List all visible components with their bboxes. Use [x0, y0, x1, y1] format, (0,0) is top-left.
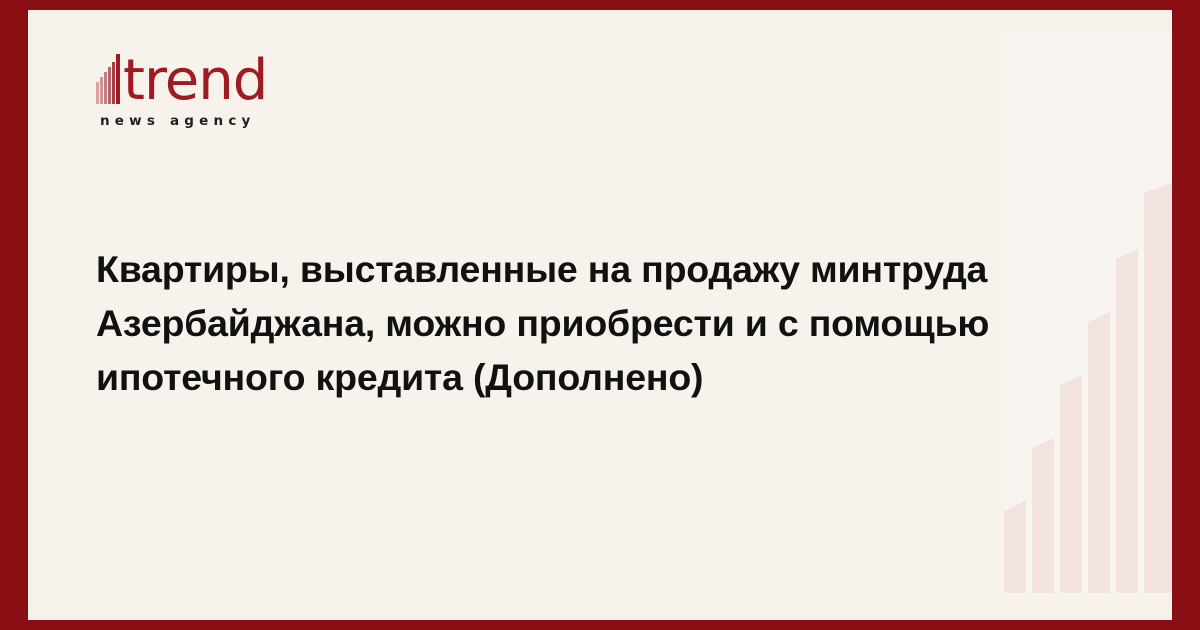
- watermark-bar-4: [1088, 312, 1110, 593]
- page-title-line: ипотечного кредита (Дополнено): [96, 350, 1038, 404]
- trend-bars-mark-icon: [96, 54, 122, 104]
- page-title-line: Квартиры, выставленные на продажу минтру…: [96, 242, 1038, 296]
- page-title: Квартиры, выставленные на продажу минтру…: [96, 242, 1038, 404]
- page-title-line: Азербайджана, можно приобрести и с помощ…: [96, 296, 1038, 350]
- trend-logo[interactable]: trend news agency: [96, 42, 336, 142]
- watermark-bar-6: [1144, 183, 1172, 593]
- logo-wordmark: trend: [123, 56, 267, 106]
- logo-mark-bar-5: [112, 62, 115, 104]
- logo-mark-bar-4: [108, 67, 111, 104]
- watermark-bar-2: [1032, 438, 1054, 593]
- logo-mark-bar-2: [100, 77, 103, 104]
- watermark-bar-3: [1060, 375, 1082, 593]
- logo-mark-bar-1: [96, 82, 99, 104]
- article-card: trend news agency Квартиры, выставленные…: [0, 0, 1200, 630]
- logo-mark-bar-3: [104, 72, 107, 104]
- watermark-bar-1: [1004, 501, 1026, 593]
- logo-mark-bar-6: [116, 54, 120, 104]
- logo-tagline: news agency: [100, 113, 336, 129]
- logo-wordmark-row: trend: [96, 42, 336, 104]
- watermark-bar-5: [1116, 249, 1138, 593]
- card-canvas: trend news agency Квартиры, выставленные…: [28, 10, 1172, 620]
